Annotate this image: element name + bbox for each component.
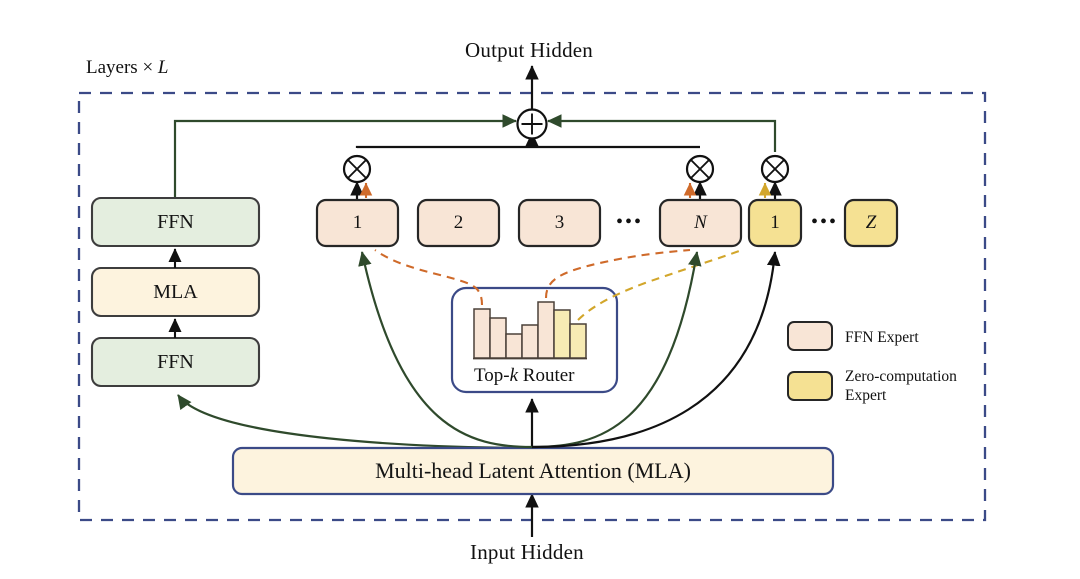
input-hidden-label: Input Hidden	[470, 540, 584, 565]
router-bar-2	[506, 334, 522, 358]
diagram-canvas: Output Hidden Input Hidden Layers × L FF…	[0, 0, 1080, 579]
ffn-expert-label-n: N	[660, 200, 741, 246]
router-label: Top-k Router	[474, 365, 575, 387]
router-label-var: k	[510, 365, 518, 386]
router-bar-4	[538, 302, 554, 358]
ffn-top-label: FFN	[92, 198, 259, 246]
output-hidden-label: Output Hidden	[465, 38, 593, 63]
expert-output-bus	[357, 147, 700, 148]
expert-ellipsis-ffn: •••	[616, 211, 643, 234]
layers-label: Layers × L	[86, 57, 169, 79]
legend-label-zero-expert: Zero-computation Expert	[845, 367, 980, 405]
attention-bar-label: Multi-head Latent Attention (MLA)	[233, 448, 833, 494]
layers-label-var: L	[158, 57, 169, 78]
router-bar-0	[474, 309, 490, 358]
router-bar-3	[522, 325, 538, 358]
ffn-expert-label-2: 2	[418, 200, 499, 246]
ffn-expert-label-1: 1	[317, 200, 398, 246]
ffn-expert-label-3: 3	[519, 200, 600, 246]
layers-label-prefix: Layers ×	[86, 57, 158, 78]
zero-expert-label-z: Z	[845, 200, 897, 246]
legend-swatch-zero-expert	[788, 372, 832, 400]
zero-expert-label-1: 1	[749, 200, 801, 246]
legend-label-ffn-expert: FFN Expert	[845, 328, 919, 347]
router-label-suffix: Router	[518, 365, 574, 386]
router-bar-5	[554, 310, 570, 358]
router-label-prefix: Top-	[474, 365, 510, 386]
ffn-bottom-label: FFN	[92, 338, 259, 386]
mla-label: MLA	[92, 268, 259, 316]
expert-ellipsis-zero: •••	[811, 211, 838, 234]
left-residual-path	[175, 121, 516, 198]
legend-swatch-ffn-expert	[788, 322, 832, 350]
router-bar-6	[570, 324, 586, 358]
router-bar-1	[490, 318, 506, 358]
